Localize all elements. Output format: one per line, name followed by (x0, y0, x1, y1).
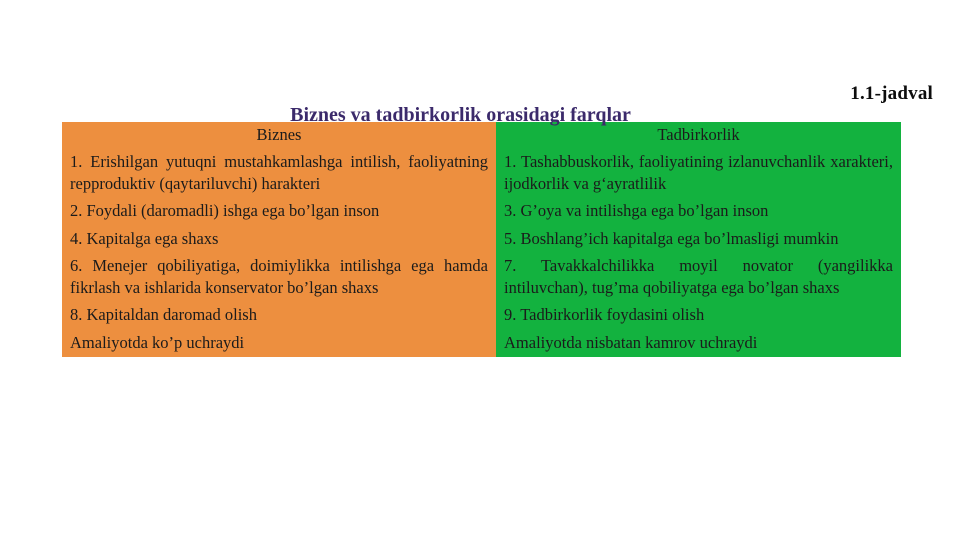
cell-tadbirkorlik-1: 1. Tashabbuskorlik, faoliyatining izlanu… (496, 149, 901, 198)
cell-biznes-2: 2. Foydali (daromadli) ishga ega bo’lgan… (62, 198, 496, 225)
table-row: 2. Foydali (daromadli) ishga ega bo’lgan… (62, 198, 901, 225)
table-number-label: 1.1-jadval (850, 83, 933, 105)
cell-biznes-5: 8. Kapitaldan daromad olish (62, 302, 496, 329)
slide-canvas: 1.1-jadval Biznes va tadbirkorlik orasid… (0, 0, 961, 540)
cell-tadbirkorlik-4: 7. Tavakkalchilikka moyil novator (yangi… (496, 253, 901, 302)
table-row: 1. Erishilgan yutuqni mustahkamlashga in… (62, 149, 901, 198)
table-row: Amaliyotda ko’p uchraydi Amaliyotda nisb… (62, 330, 901, 357)
cell-biznes-3: 4. Kapitalga ega shaxs (62, 226, 496, 253)
comparison-table: Biznes Tadbirkorlik 1. Erishilgan yutuqn… (62, 122, 901, 357)
cell-tadbirkorlik-3: 5. Boshlang’ich kapitalga ega bo’lmaslig… (496, 226, 901, 253)
cell-tadbirkorlik-6: Amaliyotda nisbatan kamrov uchraydi (496, 330, 901, 357)
cell-biznes-6: Amaliyotda ko’p uchraydi (62, 330, 496, 357)
table-row: 8. Kapitaldan daromad olish 9. Tadbirkor… (62, 302, 901, 329)
table-row: 6. Menejer qobiliyatiga, doimiylikka int… (62, 253, 901, 302)
page-title: Biznes va tadbirkorlik orasidagi farqlar (0, 104, 961, 127)
cell-biznes-4: 6. Menejer qobiliyatiga, doimiylikka int… (62, 253, 496, 302)
table-row: 4. Kapitalga ega shaxs 5. Boshlang’ich k… (62, 226, 901, 253)
cell-biznes-1: 1. Erishilgan yutuqni mustahkamlashga in… (62, 149, 496, 198)
cell-tadbirkorlik-2: 3. G’oya va intilishga ega bo’lgan inson (496, 198, 901, 225)
cell-tadbirkorlik-5: 9. Tadbirkorlik foydasini olish (496, 302, 901, 329)
